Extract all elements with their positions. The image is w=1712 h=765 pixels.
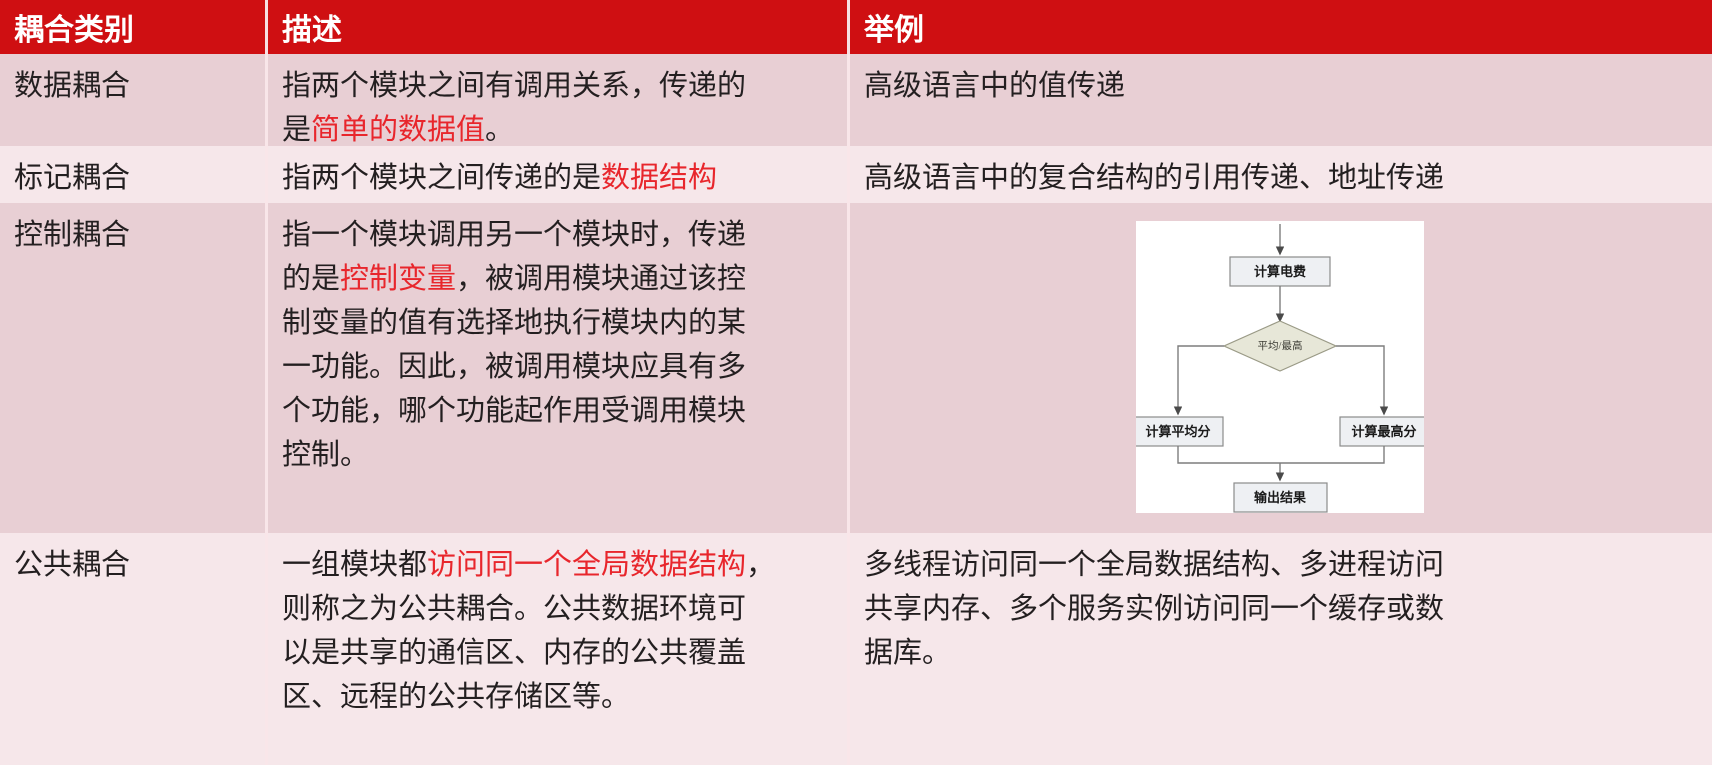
highlight-term: 控制变量 <box>340 263 456 295</box>
description-line: 一组模块都访问同一个全局数据结构， <box>282 543 831 587</box>
row-example: 多线程访问同一个全局数据结构、多进程访问 共享内存、多个服务实例访问同一个缓存或… <box>850 533 1712 765</box>
description-line: 指两个模块之间传递的是数据结构 <box>282 156 831 200</box>
row-description: 指一个模块调用另一个模块时，传递 的是控制变量，被调用模块通过该控 制变量的值有… <box>268 203 850 533</box>
edge-calc-avg-to-output <box>1178 446 1280 463</box>
coupling-types-table: 耦合类别 描述 举例 数据耦合 指两个模块之间有调用关系，传递的 是简单的数据值… <box>0 0 1712 765</box>
example-line: 据库。 <box>864 631 1696 675</box>
description-line: 指两个模块之间有调用关系，传递的 <box>282 64 831 108</box>
description-line: 区、远程的公共存储区等。 <box>282 675 831 719</box>
description-line: 个功能，哪个功能起作用受调用模块 <box>282 389 831 433</box>
flowchart-svg: 计算电费 平均/最高 计算平均分 <box>1136 221 1424 513</box>
example-line: 共享内存、多个服务实例访问同一个缓存或数 <box>864 587 1696 631</box>
row-example: 高级语言中的复合结构的引用传递、地址传递 <box>850 146 1712 203</box>
category-label: 控制耦合 <box>14 213 249 257</box>
row-description: 指两个模块之间有调用关系，传递的 是简单的数据值。 <box>268 54 850 146</box>
category-label: 公共耦合 <box>14 543 249 587</box>
description-line: 制变量的值有选择地执行模块内的某 <box>282 301 831 345</box>
table-header-row: 耦合类别 描述 举例 <box>0 0 1712 54</box>
table-row: 标记耦合 指两个模块之间传递的是数据结构 高级语言中的复合结构的引用传递、地址传… <box>0 146 1712 203</box>
highlight-term: 访问同一个全局数据结构 <box>427 549 746 581</box>
flow-node-calc-max-label: 计算最高分 <box>1351 424 1416 439</box>
row-category: 数据耦合 <box>0 54 268 146</box>
example-line: 多线程访问同一个全局数据结构、多进程访问 <box>864 543 1696 587</box>
header-cell-description: 描述 <box>268 0 850 54</box>
flow-node-calc-avg-label: 计算平均分 <box>1145 424 1210 439</box>
highlight-term: 简单的数据值 <box>311 114 485 146</box>
description-line: 则称之为公共耦合。公共数据环境可 <box>282 587 831 631</box>
flowchart-panel: 计算电费 平均/最高 计算平均分 <box>1136 221 1424 513</box>
edge-calc-max-to-output <box>1280 446 1384 463</box>
row-category: 公共耦合 <box>0 533 268 765</box>
row-category: 标记耦合 <box>0 146 268 203</box>
row-category: 控制耦合 <box>0 203 268 533</box>
flow-node-output-label: 输出结果 <box>1254 490 1306 505</box>
row-example: 计算电费 平均/最高 计算平均分 <box>850 203 1712 533</box>
table-row: 公共耦合 一组模块都访问同一个全局数据结构， 则称之为公共耦合。公共数据环境可 … <box>0 533 1712 765</box>
edge-decision-to-calc-max <box>1336 346 1384 411</box>
flowchart-container: 计算电费 平均/最高 计算平均分 <box>864 213 1696 523</box>
flow-node-decision-label: 平均/最高 <box>1258 339 1303 352</box>
highlight-term: 数据结构 <box>601 162 717 194</box>
edge-decision-to-calc-avg <box>1178 346 1224 411</box>
flow-node-calc-fee-label: 计算电费 <box>1254 264 1306 279</box>
category-label: 标记耦合 <box>14 156 249 200</box>
header-cell-category: 耦合类别 <box>0 0 268 54</box>
description-line: 控制。 <box>282 433 831 477</box>
description-line: 的是控制变量，被调用模块通过该控 <box>282 257 831 301</box>
row-example: 高级语言中的值传递 <box>850 54 1712 146</box>
table-row: 数据耦合 指两个模块之间有调用关系，传递的 是简单的数据值。 高级语言中的值传递 <box>0 54 1712 146</box>
description-line: 一功能。因此，被调用模块应具有多 <box>282 345 831 389</box>
table-row: 控制耦合 指一个模块调用另一个模块时，传递 的是控制变量，被调用模块通过该控 制… <box>0 203 1712 533</box>
row-description: 指两个模块之间传递的是数据结构 <box>268 146 850 203</box>
row-description: 一组模块都访问同一个全局数据结构， 则称之为公共耦合。公共数据环境可 以是共享的… <box>268 533 850 765</box>
category-label: 数据耦合 <box>14 64 249 108</box>
header-cell-example: 举例 <box>850 0 1712 54</box>
description-line: 以是共享的通信区、内存的公共覆盖 <box>282 631 831 675</box>
description-line: 指一个模块调用另一个模块时，传递 <box>282 213 831 257</box>
